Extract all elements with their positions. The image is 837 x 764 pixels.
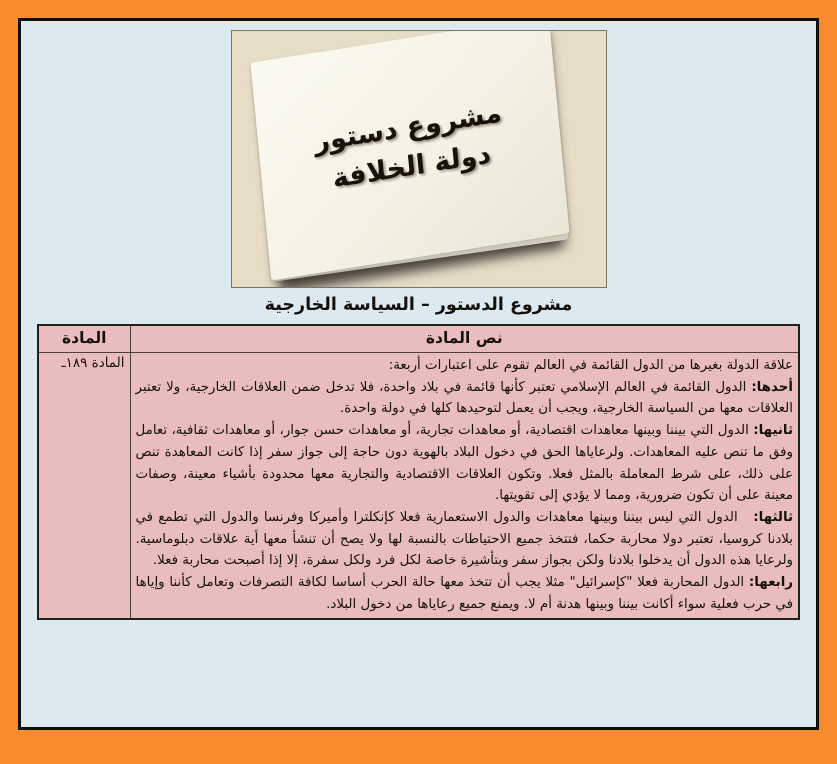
paragraph-text: علاقة الدولة بغيرها من الدول القائمة في … [389,358,793,373]
header-figure: مشروع دستور دولة الخلافة مشروع الدستور –… [231,30,607,315]
article-text-cell: علاقة الدولة بغيرها من الدول القائمة في … [130,353,799,620]
article-paragraph-third: ثالثها: الدول التي ليس بيننا وبينها معاه… [136,507,794,572]
article-paragraph-intro: علاقة الدولة بغيرها من الدول القائمة في … [136,355,794,377]
article-paragraph-second: ثانيها: الدول التي بيننا وبينها معاهدات … [136,420,794,507]
column-header-article-number: المادة [38,325,130,353]
table-header: نص المادة المادة [38,325,799,353]
paragraph-lead: أحدها: [751,380,793,395]
article-paragraph-fourth: رابعها: الدول المحاربة فعلا "كإسرائيل" م… [136,572,794,615]
document-page: مشروع دستور دولة الخلافة مشروع الدستور –… [0,0,837,764]
article-table: نص المادة المادة علاقة الدولة بغيرها من … [37,324,800,620]
article-number-cell: المادة ١٨٩ـ [38,353,130,620]
paragraph-text: الدول التي بيننا وبينها معاهدات اقتصادية… [136,423,794,503]
constitution-draft-illustration: مشروع دستور دولة الخلافة [231,30,607,288]
paragraph-lead: ثانيها: [753,423,793,438]
article-paragraph-first: أحدها: الدول القائمة في العالم الإسلامي … [136,377,794,420]
paragraph-text: الدول المحاربة فعلا "كإسرائيل" مثلا يجب … [136,575,794,612]
paragraph-lead: رابعها: [749,575,793,590]
table-header-row: نص المادة المادة [38,325,799,353]
paragraph-spacer [738,510,748,525]
paragraph-text: الدول القائمة في العالم الإسلامي تعتبر ك… [136,380,794,417]
paragraph-lead: ثالثها: [753,510,793,525]
table-body: علاقة الدولة بغيرها من الدول القائمة في … [38,353,799,620]
paragraph-text: الدول التي ليس بيننا وبينها معاهدات والد… [136,510,794,568]
figure-caption: مشروع الدستور – السياسة الخارجية [231,295,607,315]
table-row: علاقة الدولة بغيرها من الدول القائمة في … [38,353,799,620]
page-frame: مشروع دستور دولة الخلافة مشروع الدستور –… [18,18,819,730]
column-header-article-text: نص المادة [130,325,799,353]
